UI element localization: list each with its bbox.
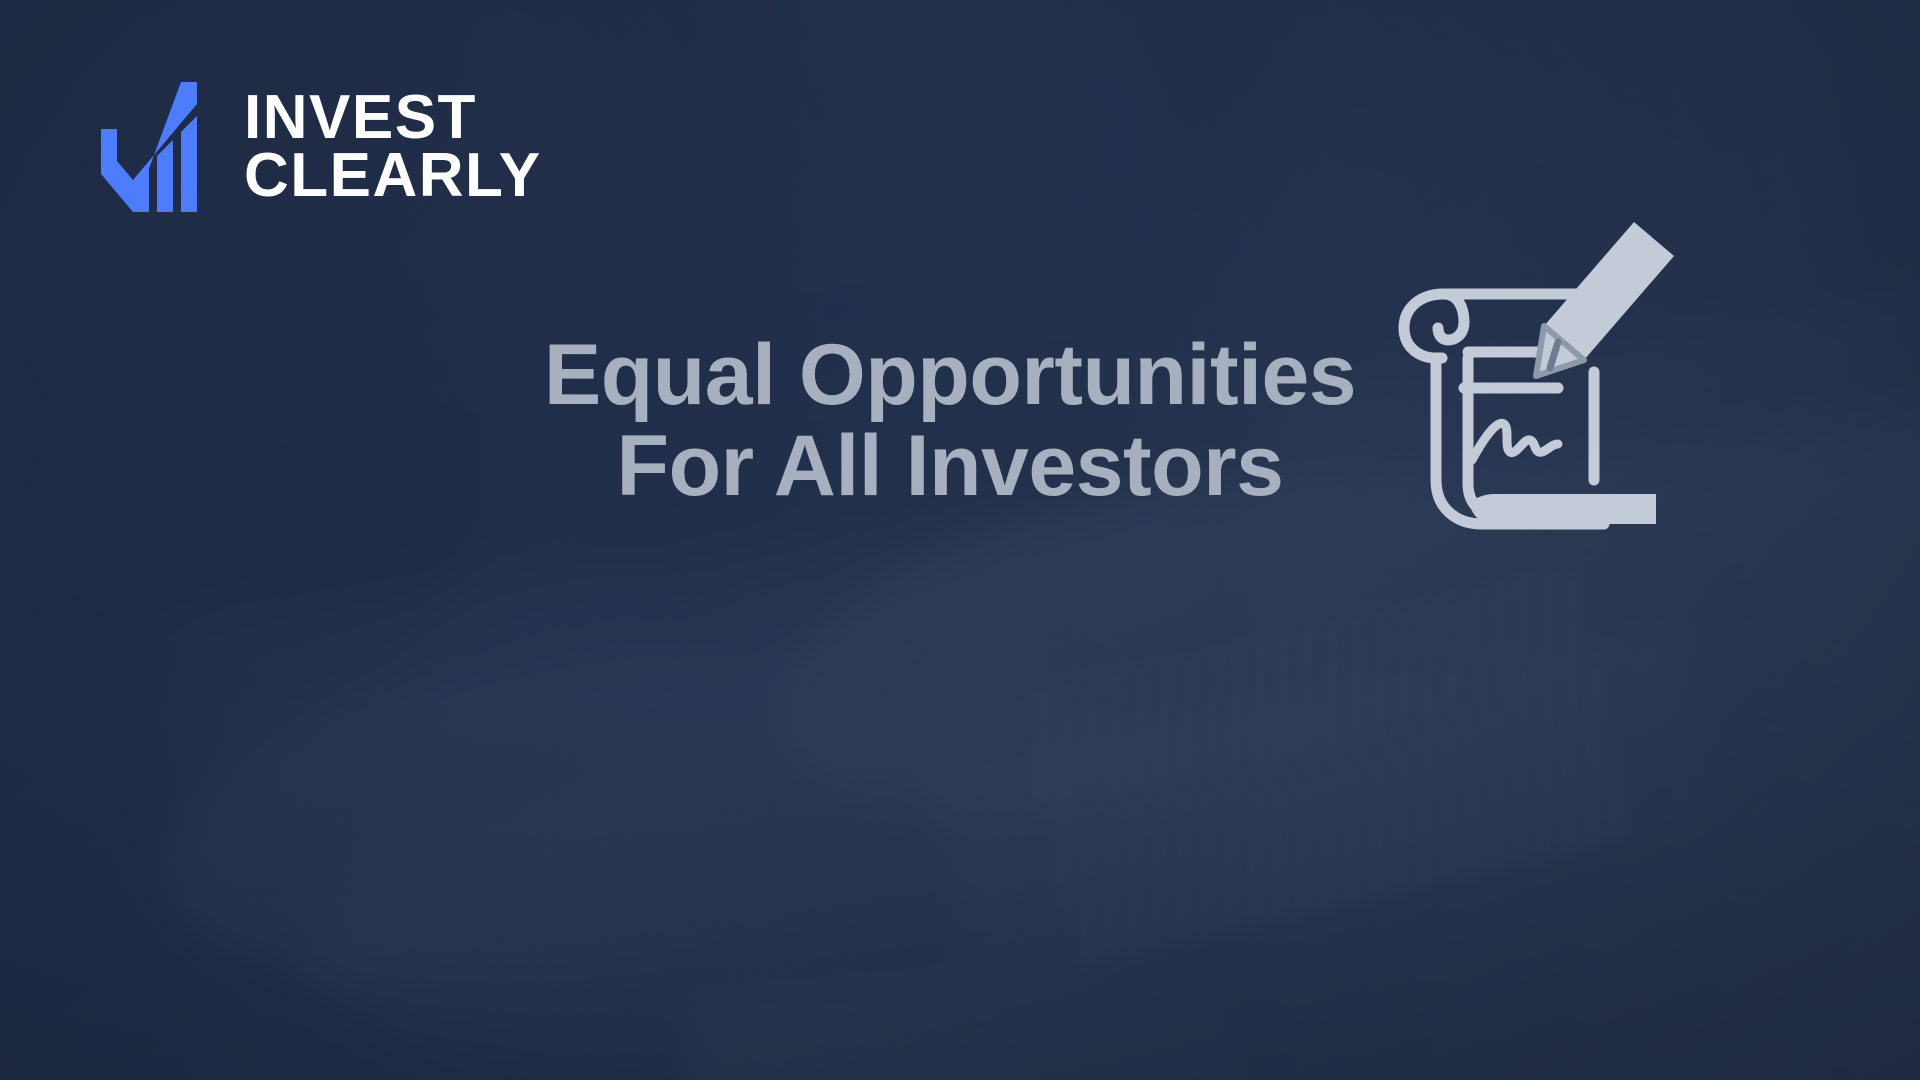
brand-logo-lockup[interactable]: INVEST CLEARLY <box>86 82 542 212</box>
scroll-inner-curl <box>1438 294 1464 340</box>
signature-squiggle <box>1472 423 1558 460</box>
brand-name-line-1: INVEST <box>244 89 542 147</box>
brand-name-line-2: CLEARLY <box>244 147 542 205</box>
chart-check-logo-icon <box>86 82 212 212</box>
brand-wordmark: INVEST CLEARLY <box>244 89 542 206</box>
hero-banner: INVEST CLEARLY Equal Opportunities For A… <box>0 0 1920 1080</box>
scroll-bottom-bar <box>1470 494 1656 524</box>
contract-scroll-signature-icon <box>1398 222 1698 540</box>
